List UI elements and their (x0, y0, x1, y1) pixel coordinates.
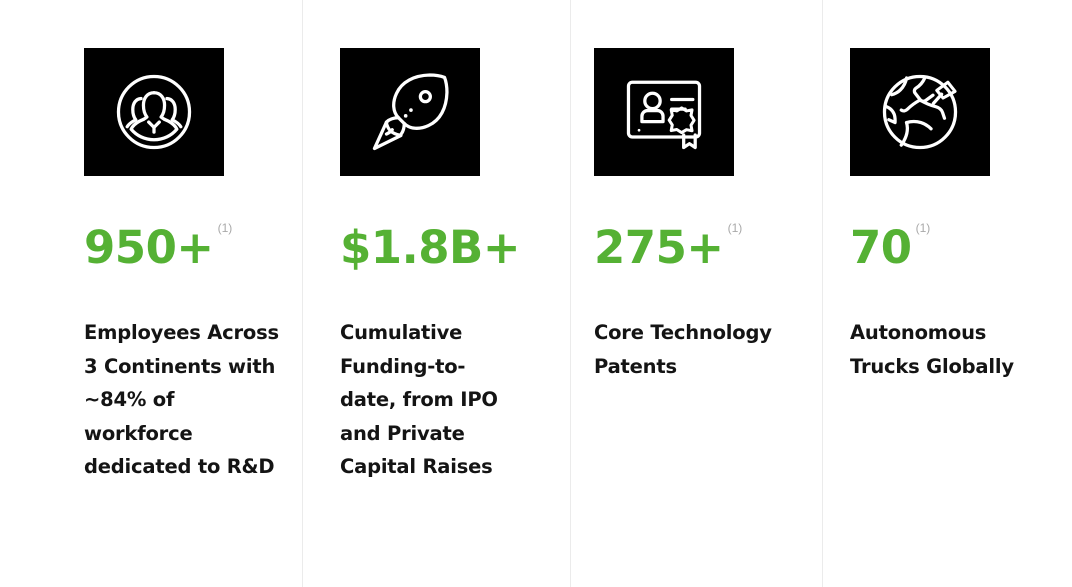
stat-card-employees: 950+ (1) Employees Across 3 Continents w… (0, 0, 302, 587)
stat-card-trucks: 70 (1) Autonomous Trucks Globally (822, 0, 1072, 587)
stat-footnote-marker: (1) (916, 222, 931, 234)
stat-value: $1.8B+ (340, 220, 520, 276)
stat-value: 70 (850, 220, 912, 276)
globe-with-pin-icon (850, 48, 990, 176)
column-divider (822, 0, 823, 587)
stat-footnote-marker: (1) (728, 222, 743, 234)
stat-value: 950+ (84, 220, 214, 276)
stat-value-row: 275+ (1) (594, 220, 742, 282)
stat-value-row: 70 (1) (850, 220, 930, 282)
stat-label: Employees Across 3 Continents with ~84% … (84, 316, 279, 484)
stat-label: Cumulative Funding-to-date, from IPO and… (340, 316, 518, 484)
group-of-people-icon (84, 48, 224, 176)
stat-value-row: 950+ (1) (84, 220, 232, 282)
stat-card-patents: 275+ (1) Core Technology Patents (570, 0, 822, 587)
stat-label: Autonomous Trucks Globally (850, 316, 1050, 383)
stat-value: 275+ (594, 220, 724, 276)
stat-card-funding: $1.8B+ Cumulative Funding-to-date, from … (302, 0, 570, 587)
column-divider (302, 0, 303, 587)
column-divider (570, 0, 571, 587)
rocket-icon (340, 48, 480, 176)
stat-value-row: $1.8B+ (340, 220, 520, 282)
stat-label: Core Technology Patents (594, 316, 799, 383)
statistics-band: 950+ (1) Employees Across 3 Continents w… (0, 0, 1072, 587)
stat-footnote-marker: (1) (218, 222, 233, 234)
patent-certificate-icon (594, 48, 734, 176)
